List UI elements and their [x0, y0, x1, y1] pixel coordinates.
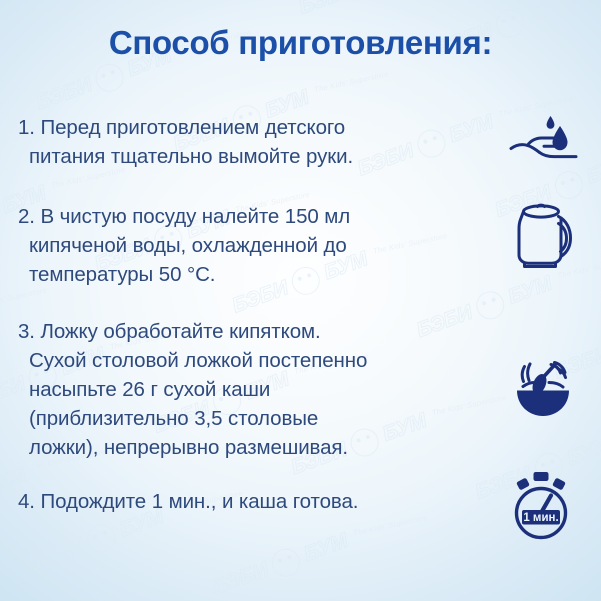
step-2-line-3: температуры 50 °C. [18, 260, 496, 289]
hand-washing-icon [508, 112, 580, 170]
instruction-step-1: 1. Перед приготовлением детского питания… [18, 113, 496, 171]
instruction-step-4: 4. Подождите 1 мин., и каша готова. [18, 487, 496, 516]
step-1-line-2: питания тщательно вымойте руки. [18, 142, 496, 171]
page-title: Способ приготовления: [0, 24, 601, 62]
step-3-line-5: ложки), непрерывно размешивая. [18, 433, 496, 462]
instruction-step-3: 3. Ложку обработайте кипятком. Сухой сто… [18, 317, 496, 462]
stopwatch-icon: 1 мин. [508, 470, 574, 542]
step-1-line-1: 1. Перед приготовлением детского [18, 113, 496, 142]
step-2-line-2: кипяченой воды, охлажденной до [18, 231, 496, 260]
kettle-icon [512, 200, 576, 272]
step-4-line-1: 4. Подождите 1 мин., и каша готова. [18, 487, 496, 516]
stopwatch-label: 1 мин. [523, 512, 558, 524]
step-3-line-3: насыпьте 26 г сухой каши [18, 375, 496, 404]
step-2-line-1: 2. В чистую посуду налейте 150 мл [18, 202, 496, 231]
instruction-step-2: 2. В чистую посуду налейте 150 мл кипяче… [18, 202, 496, 289]
step-3-line-1: 3. Ложку обработайте кипятком. [18, 317, 496, 346]
step-3-line-2: Сухой столовой ложкой постепенно [18, 346, 496, 375]
recipe-instructions-poster: БЭБИ БУМ The Kids' Superstore БЭБИ БУМ T… [0, 0, 601, 601]
poster-content: Способ приготовления: 1. Перед приготовл… [0, 0, 601, 601]
bowl-stirring-icon [509, 357, 577, 419]
step-3-line-4: (приблизительно 3,5 столовые [18, 404, 496, 433]
